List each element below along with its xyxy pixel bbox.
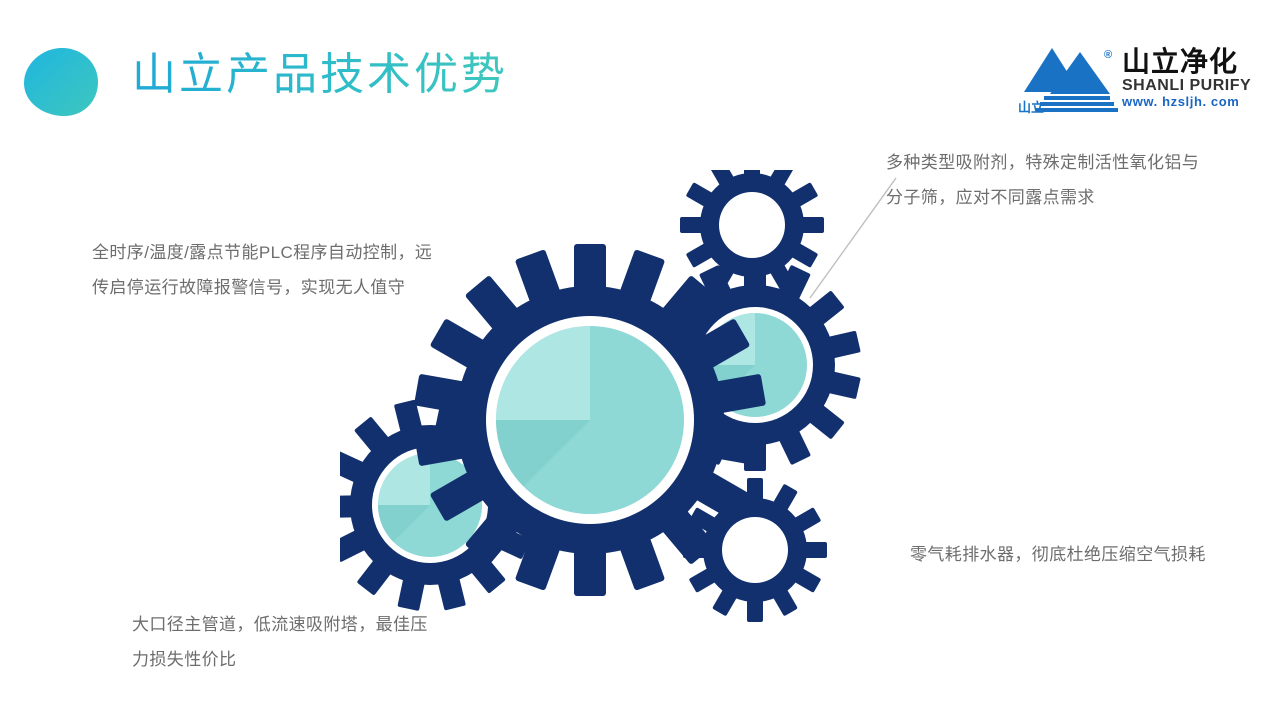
svg-text:山立: 山立 xyxy=(1018,100,1044,115)
logo-company-cn: 山立净化 xyxy=(1122,48,1258,77)
brand-logo: 山立 ® 山立净化 SHANLI PURIFY www. hzsljh. com xyxy=(1018,42,1258,124)
leader-line-top-right xyxy=(810,178,896,298)
logo-website: www. hzsljh. com xyxy=(1122,94,1258,110)
logo-wordmark: 山立净化 SHANLI PURIFY www. hzsljh. com xyxy=(1122,48,1258,110)
callout-large-pipe: 大口径主管道，低流速吸附塔，最佳压力损失性价比 xyxy=(132,608,432,678)
decorative-blob xyxy=(22,46,100,118)
svg-text:®: ® xyxy=(1104,49,1112,61)
slide-canvas: 山立产品技术优势 山立 ® 山立净化 SHANLI PURIFY www. hz… xyxy=(0,0,1280,720)
gear-main-pie xyxy=(496,326,684,514)
mountain-logo-icon: 山立 ® xyxy=(1018,42,1122,116)
callout-adsorbent-types: 多种类型吸附剂，特殊定制活性氧化铝与分子筛，应对不同露点需求 xyxy=(886,146,1206,216)
logo-company-en: SHANLI PURIFY xyxy=(1122,77,1258,95)
gear-main xyxy=(414,244,766,596)
page-title: 山立产品技术优势 xyxy=(132,50,508,99)
callout-plc-control: 全时序/温度/露点节能PLC程序自动控制，远传启停运行故障报警信号，实现无人值守 xyxy=(92,236,442,306)
callout-zero-air-drain: 零气耗排水器，彻底杜绝压缩空气损耗 xyxy=(910,538,1220,573)
